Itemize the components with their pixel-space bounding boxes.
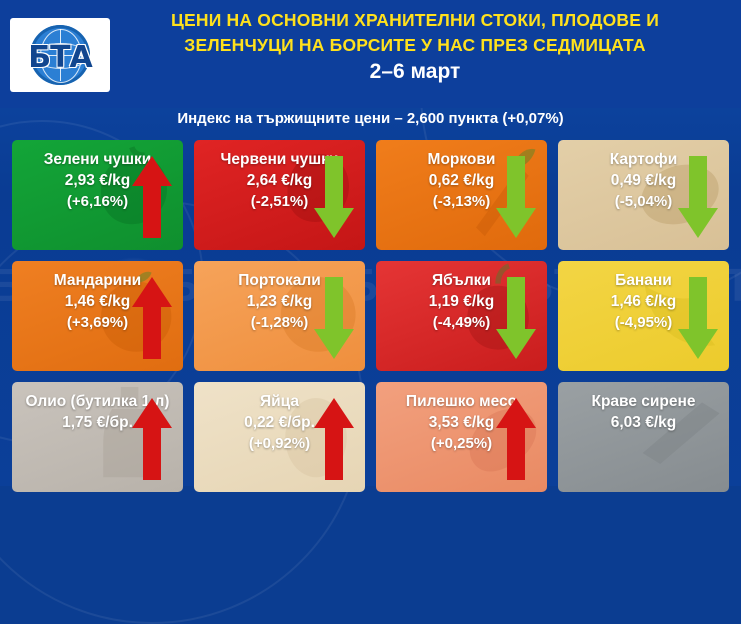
header: БТА ЦЕНИ НА ОСНОВНИ ХРАНИТЕЛНИ СТОКИ, ПЛ… — [0, 0, 741, 108]
title-line-2: ЗЕЛЕНЧУЦИ НА БОРСИТЕ У НАС ПРЕЗ СЕДМИЦАТ… — [95, 33, 735, 58]
price-card: Зелени чушки 2,93 €/kg (+6,16%) — [12, 140, 183, 250]
arrow-down-icon — [676, 154, 720, 240]
price-card: Червени чушки 2,64 €/kg (-2,51%) — [194, 140, 365, 250]
price-card: Портокали 1,23 €/kg (-1,28%) — [194, 261, 365, 371]
card-name: Краве сирене — [566, 391, 721, 412]
price-card: Картофи 0,49 €/kg (-5,04%) — [558, 140, 729, 250]
price-index-label: Индекс на тържищните цени – 2,600 пункта… — [0, 110, 741, 127]
price-card: Пилешко месо 3,53 €/kg (+0,25%) — [376, 382, 547, 492]
price-card: Краве сирене 6,03 €/kg — [558, 382, 729, 492]
arrow-down-icon — [494, 154, 538, 240]
arrow-up-icon — [130, 154, 174, 240]
price-card: Банани 1,46 €/kg (-4,95%) — [558, 261, 729, 371]
arrow-up-icon — [494, 396, 538, 482]
arrow-down-icon — [676, 275, 720, 361]
price-cards-grid: Зелени чушки 2,93 €/kg (+6,16%) Червени … — [12, 140, 730, 492]
period-label: 2–6 март — [95, 60, 735, 84]
price-card: Мандарини 1,46 €/kg (+3,69%) — [12, 261, 183, 371]
title-line-1: ЦЕНИ НА ОСНОВНИ ХРАНИТЕЛНИ СТОКИ, ПЛОДОВ… — [95, 8, 735, 33]
arrow-up-icon — [312, 396, 356, 482]
arrow-up-icon — [130, 396, 174, 482]
page-title: ЦЕНИ НА ОСНОВНИ ХРАНИТЕЛНИ СТОКИ, ПЛОДОВ… — [95, 8, 735, 58]
price-card: Олио (бутилка 1 л) 1,75 €/бр. — [12, 382, 183, 492]
arrow-down-icon — [494, 275, 538, 361]
price-card: Яйца 0,22 €/бр. (+0,92%) — [194, 382, 365, 492]
arrow-up-icon — [130, 275, 174, 361]
arrow-down-icon — [312, 154, 356, 240]
card-price: 6,03 €/kg — [566, 412, 721, 433]
price-card: Ябълки 1,19 €/kg (-4,49%) — [376, 261, 547, 371]
price-card: Моркови 0,62 €/kg (-3,13%) — [376, 140, 547, 250]
arrow-down-icon — [312, 275, 356, 361]
